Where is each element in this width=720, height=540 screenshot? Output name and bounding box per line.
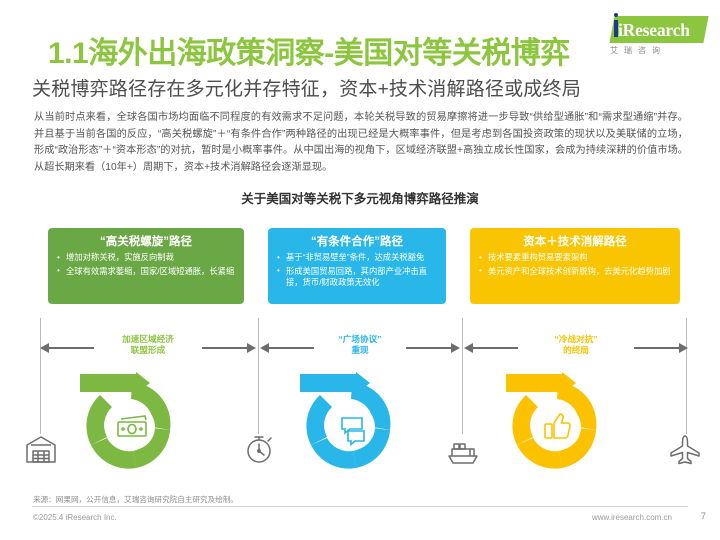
slide-root: iResearch 艾瑞咨询 1.1海外出海政策洞察-美国对等关税博弈 关税博弈… (0, 0, 720, 540)
timeline-divider (462, 318, 463, 434)
stopwatch-icon (242, 432, 276, 466)
cycle-diagram-blue (300, 372, 404, 476)
warehouse-icon (24, 432, 58, 466)
card-bullet-list: 技术要素重构贸易要素架构 美元资产和全球技术创新脱钩，去美元化趋势加剧 (479, 252, 671, 277)
logo-chinese-name: 艾瑞咨询 (610, 45, 708, 56)
footer-divider (32, 506, 688, 507)
arrow-label: “冷战对抗” 的终局 (472, 334, 680, 356)
card-bullet: 技术要素重构贸易要素架构 (479, 252, 671, 264)
arrow-row-plaza-accord-repeat: “广场协议” 重现 (268, 330, 452, 370)
arrow-label: 加速区域经济 联盟形成 (48, 334, 248, 356)
airplane-icon (668, 432, 702, 466)
body-paragraph: 从当前时点来看，全球各国市场均面临不同程度的有效需求不足问题，本轮关税导致的贸易… (34, 110, 688, 176)
card-title: 资本＋技术消解路径 (479, 234, 671, 250)
timeline-divider (40, 318, 41, 434)
card-high-tariff-spiral: “高关税螺旋”路径 增加对称关税，实施反向制裁 全球有效需求萎缩，国家/区域短通… (48, 228, 244, 304)
timeline-divider (258, 318, 259, 434)
iresearch-logo: iResearch 艾瑞咨询 (602, 16, 706, 62)
cycle-diagram-green (80, 372, 184, 476)
card-capital-tech-dissolution: 资本＋技术消解路径 技术要素重构贸易要素架构 美元资产和全球技术创新脱钩，去美元… (470, 228, 680, 304)
card-conditional-cooperation: “有条件合作”路径 基于“非贸易壁垒”条件，达成关税豁免 形成美国贸易回路，其内… (268, 228, 446, 304)
card-bullet: 美元资产和全球技术创新脱钩，去美元化趋势加剧 (479, 266, 671, 278)
card-bullet: 增加对称关税，实施反向制裁 (57, 252, 235, 264)
arrow-label: “广场协议” 重现 (268, 334, 452, 356)
timeline-divider (686, 318, 687, 434)
card-title: “高关税螺旋”路径 (57, 234, 235, 250)
copyright-text: ©2025.4 iResearch Inc. (33, 513, 117, 522)
arrow-row-regional-economic-alliance: 加速区域经济 联盟形成 (48, 330, 248, 370)
arrow-row-cold-war-endgame: “冷战对抗” 的终局 (472, 330, 680, 370)
page-subtitle: 关税博弈路径存在多元化并存特征，资本+技术消解路径或成终局 (32, 74, 581, 101)
cargo-ship-icon (446, 434, 480, 468)
card-bullet: 基于“非贸易壁垒”条件，达成关税豁免 (277, 252, 437, 264)
card-bullet: 全球有效需求萎缩，国家/区域短通胀，长紧缩 (57, 266, 235, 278)
logo-wordmark: iResearch (618, 18, 710, 42)
page-title: 1.1海外出海政策洞察-美国对等关税博弈 (48, 28, 570, 72)
section-title: 关于美国对等关税下多元视角博弈路径推演 (0, 188, 720, 207)
page-number: 7 (701, 511, 706, 522)
card-title: “有条件合作”路径 (277, 234, 437, 250)
card-bullet-list: 增加对称关税，实施反向制裁 全球有效需求萎缩，国家/区域短通胀，长紧缩 (57, 252, 235, 277)
source-note: 来源：网果网，公开信息，艾瑞咨询研究院自主研究及绘制。 (33, 494, 238, 505)
website-url[interactable]: www.iresearch.com.cn (592, 513, 672, 522)
card-bullet: 形成美国贸易回路，其内部产业冲击直接，货币/财政政策无效化 (277, 266, 437, 289)
cycle-diagram-yellow (506, 372, 610, 476)
card-bullet-list: 基于“非贸易壁垒”条件，达成关税豁免 形成美国贸易回路，其内部产业冲击直接，货币… (277, 252, 437, 289)
logo-i-dot-icon (614, 13, 618, 17)
